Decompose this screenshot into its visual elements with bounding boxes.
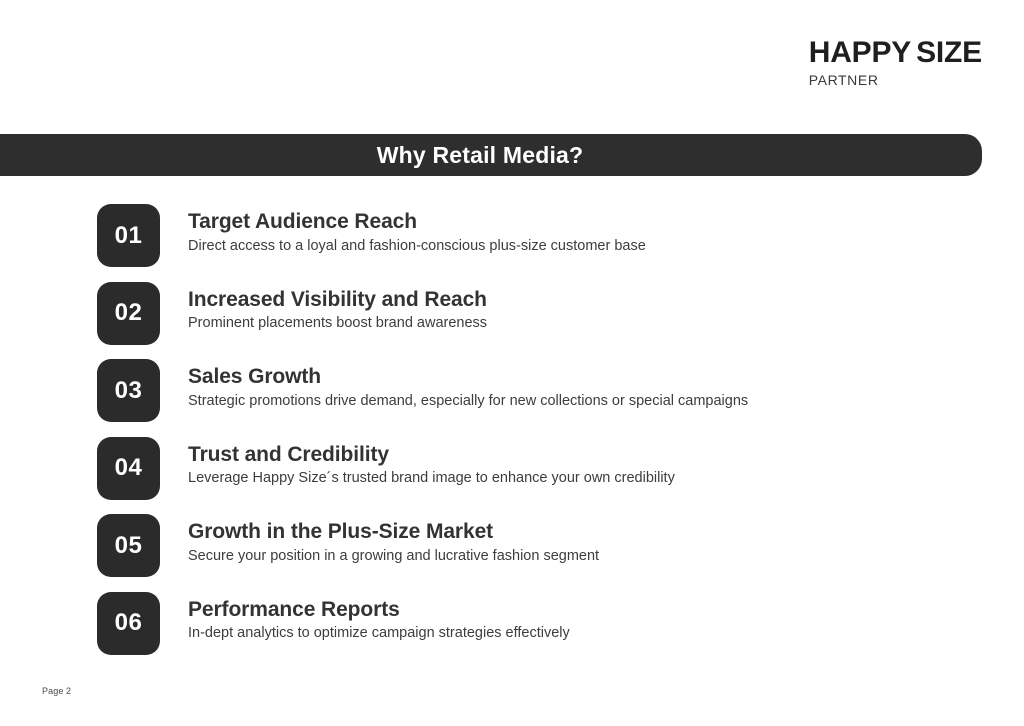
benefits-list: 01 Target Audience Reach Direct access t…	[97, 204, 997, 669]
list-item: 03 Sales Growth Strategic promotions dri…	[97, 359, 997, 422]
list-item-title: Sales Growth	[188, 365, 1008, 390]
brand-name-part1: HAPPY	[809, 36, 911, 69]
badge-number: 03	[115, 379, 143, 403]
badge-number: 05	[115, 534, 143, 558]
brand-logo: HAPPYSIZE PARTNER	[809, 38, 982, 87]
number-badge: 04	[97, 437, 160, 500]
title-banner: Why Retail Media?	[0, 134, 982, 176]
list-item-title: Growth in the Plus-Size Market	[188, 520, 1008, 545]
badge-number: 04	[115, 456, 143, 480]
list-item-description: Leverage Happy Size´s trusted brand imag…	[188, 469, 1008, 487]
list-item-description: Direct access to a loyal and fashion-con…	[188, 237, 1008, 255]
list-item-description: Prominent placements boost brand awarene…	[188, 314, 1008, 332]
list-item: 06 Performance Reports In-dept analytics…	[97, 592, 997, 655]
list-item: 04 Trust and Credibility Leverage Happy …	[97, 437, 997, 500]
page-title: Why Retail Media?	[377, 142, 584, 169]
brand-name-part2: SIZE	[916, 36, 982, 69]
list-item-text: Sales Growth Strategic promotions drive …	[188, 365, 1008, 410]
badge-number: 06	[115, 611, 143, 635]
list-item-description: In-dept analytics to optimize campaign s…	[188, 624, 1008, 642]
list-item-text: Performance Reports In-dept analytics to…	[188, 598, 1008, 643]
list-item-text: Growth in the Plus-Size Market Secure yo…	[188, 520, 1008, 565]
list-item-text: Increased Visibility and Reach Prominent…	[188, 288, 1008, 333]
list-item-title: Target Audience Reach	[188, 210, 1008, 235]
number-badge: 02	[97, 282, 160, 345]
list-item-description: Strategic promotions drive demand, espec…	[188, 392, 1008, 410]
list-item-title: Trust and Credibility	[188, 443, 1008, 468]
list-item-text: Target Audience Reach Direct access to a…	[188, 210, 1008, 255]
number-badge: 06	[97, 592, 160, 655]
list-item-title: Performance Reports	[188, 598, 1008, 623]
list-item-text: Trust and Credibility Leverage Happy Siz…	[188, 443, 1008, 488]
badge-number: 01	[115, 224, 143, 248]
number-badge: 03	[97, 359, 160, 422]
brand-name: HAPPYSIZE	[809, 38, 982, 68]
list-item-title: Increased Visibility and Reach	[188, 288, 1008, 313]
number-badge: 01	[97, 204, 160, 267]
list-item: 02 Increased Visibility and Reach Promin…	[97, 282, 997, 345]
list-item: 05 Growth in the Plus-Size Market Secure…	[97, 514, 997, 577]
number-badge: 05	[97, 514, 160, 577]
brand-subtitle: PARTNER	[809, 73, 982, 87]
list-item-description: Secure your position in a growing and lu…	[188, 547, 1008, 565]
list-item: 01 Target Audience Reach Direct access t…	[97, 204, 997, 267]
badge-number: 02	[115, 301, 143, 325]
slide-canvas: HAPPYSIZE PARTNER Why Retail Media? 01 T…	[0, 0, 1024, 726]
page-number-footer: Page 2	[42, 686, 71, 696]
